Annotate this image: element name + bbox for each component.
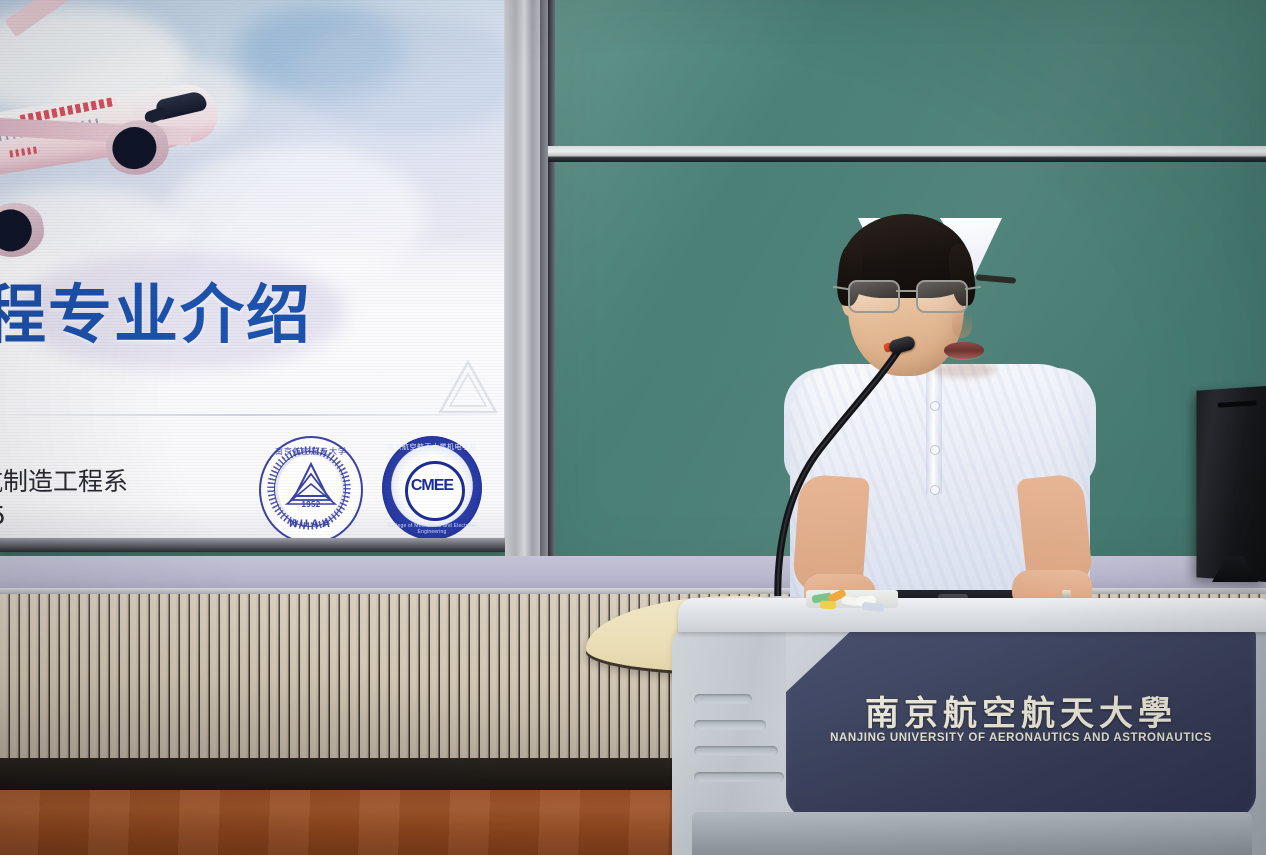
nuaa-seal-logo: 南京航空航天大学 1952 NUAA (259, 436, 363, 544)
engine-intake (0, 206, 35, 254)
cloud (296, 16, 508, 136)
cmee-chinese-text: 南京航空航天大学机电学院 (383, 442, 481, 452)
monitor-vent (1218, 401, 1257, 408)
seal-acronym: NUAA (261, 518, 361, 530)
wedding-ring (1062, 590, 1071, 597)
blackboard-left-edge (548, 0, 555, 566)
podium-base (692, 812, 1252, 855)
slide-title: 程专业介绍 (0, 264, 312, 356)
podium-vent (694, 772, 784, 782)
nose (952, 312, 972, 338)
slide-date: 5 (0, 501, 6, 530)
slide-subtitle: 航制造工程系 (0, 462, 128, 498)
presenter (790, 218, 1090, 638)
podium-vent (694, 694, 752, 704)
projected-slide: 程专业介绍 航制造工程系 5 南京航空航天大学 1952 NUAA 南京航空航天… (0, 0, 504, 544)
computer-monitor[interactable] (1196, 386, 1266, 582)
lecture-hall-scene: 程专业介绍 航制造工程系 5 南京航空航天大学 1952 NUAA 南京航空航天… (0, 0, 1266, 855)
podium-chinese-name: 南京航空航天大學 (786, 686, 1256, 735)
cmee-english-text: College of Mechanical and Electrical Eng… (383, 523, 481, 535)
aircraft-engine (0, 199, 48, 262)
screen-bottom-edge (0, 538, 508, 552)
eyeglasses (846, 280, 968, 310)
eyebrow-right (976, 274, 1016, 283)
podium-top-surface (678, 598, 1266, 632)
lecture-podium[interactable]: 南京航空航天大學 NANJING UNIVERSITY OF AERONAUTI… (672, 598, 1266, 855)
cmee-seal-logo: 南京航空航天大学机电学院 CMEE College of Mechanical … (382, 436, 482, 540)
blackboard-middle-rail (548, 146, 1266, 162)
podium-front-panel: 南京航空航天大學 NANJING UNIVERSITY OF AERONAUTI… (786, 628, 1256, 830)
glasses-bridge (896, 290, 918, 292)
projection-screen: 程专业介绍 航制造工程系 5 南京航空航天大学 1952 NUAA 南京航空航天… (0, 0, 508, 552)
podium-english-name: NANJING UNIVERSITY OF AERONAUTICS AND AS… (786, 732, 1256, 744)
aircraft-wing (5, 0, 220, 37)
lens-left (848, 280, 900, 313)
shirt-button (931, 402, 939, 410)
cmee-monogram: CMEE (383, 477, 481, 495)
engine-intake (109, 124, 159, 172)
mouth (944, 342, 984, 359)
triangle-watermark-icon (436, 358, 500, 416)
chalk-piece[interactable] (820, 600, 837, 609)
podium-vent-group (694, 694, 784, 804)
shirt-button (931, 486, 939, 494)
slide-divider (0, 414, 506, 416)
podium-vent (694, 720, 766, 730)
seal-year: 1952 (261, 500, 361, 509)
shirt-button (931, 446, 939, 454)
podium-vent (694, 746, 778, 756)
lens-right (916, 280, 968, 313)
chin-shadow (932, 362, 996, 378)
